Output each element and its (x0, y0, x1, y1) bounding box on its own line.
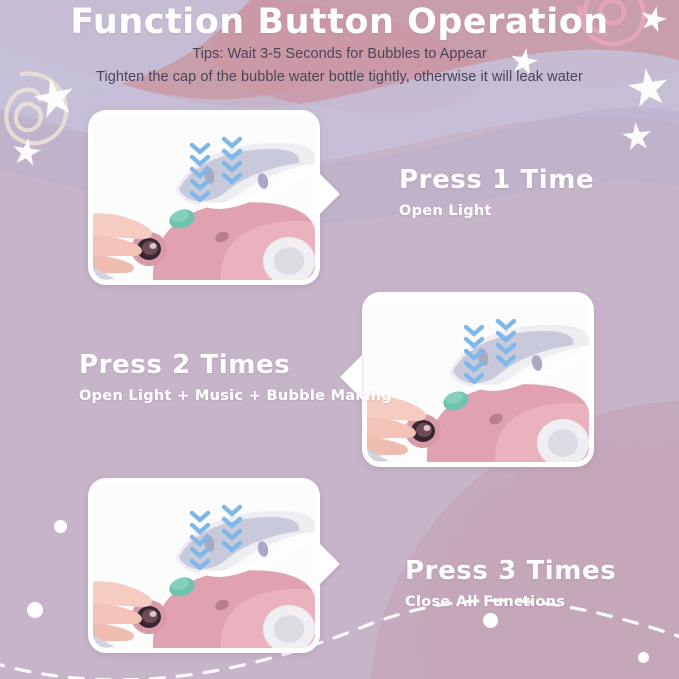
star-decoration (621, 121, 654, 154)
bubble-machine-illustration (93, 483, 315, 648)
dot-decoration (483, 613, 498, 628)
header: Function Button Operation Tips: Wait 3-5… (0, 0, 679, 88)
page-title: Function Button Operation (0, 0, 679, 43)
star-decoration (10, 136, 43, 169)
step-2-heading: Press 2 Times (79, 350, 392, 381)
step-2-text: Press 2 Times Open Light + Music + Bubbl… (79, 350, 392, 405)
bubble-machine-illustration (367, 297, 589, 462)
step-1-description: Open Light (399, 202, 594, 220)
bubble-machine-illustration (93, 115, 315, 280)
step-3-photo (93, 483, 315, 648)
step-3-heading: Press 3 Times (405, 556, 616, 587)
step-1-heading: Press 1 Time (399, 165, 594, 196)
step-2-photo (367, 297, 589, 462)
dot-decoration (54, 520, 67, 533)
step-1-arrow-icon (318, 172, 340, 216)
dot-decoration (27, 602, 43, 618)
step-1-photo-card (88, 110, 320, 285)
tip-line-2: Tighten the cap of the bubble water bott… (0, 66, 679, 88)
step-3-text: Press 3 Times Close All Functions (405, 556, 616, 611)
infographic-root: Function Button Operation Tips: Wait 3-5… (0, 0, 679, 679)
step-2-photo-card (362, 292, 594, 467)
step-1-text: Press 1 Time Open Light (399, 165, 594, 220)
step-3-arrow-icon (318, 542, 340, 586)
tip-line-1: Tips: Wait 3-5 Seconds for Bubbles to Ap… (0, 43, 679, 65)
step-3-description: Close All Functions (405, 593, 616, 611)
step-1-photo (93, 115, 315, 280)
step-2-description: Open Light + Music + Bubble Making (79, 387, 392, 405)
step-3-photo-card (88, 478, 320, 653)
dot-decoration (638, 652, 649, 663)
